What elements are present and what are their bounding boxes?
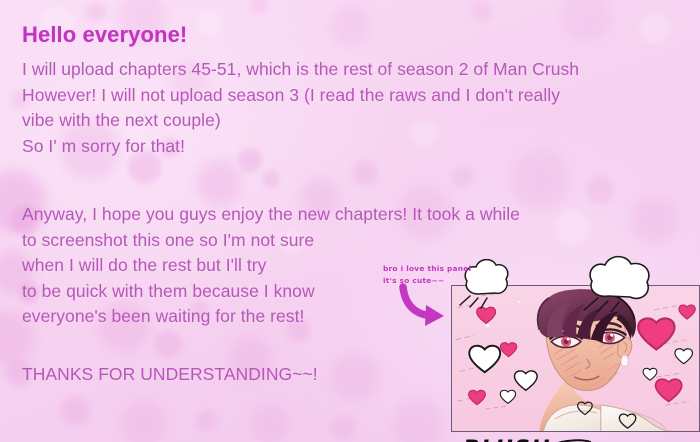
blush-caption-text: BLUSH — [463, 437, 551, 442]
comic-panel — [451, 285, 700, 432]
text-line: However! I will not upload season 3 (I r… — [22, 83, 682, 109]
blush-caption: BLUSH — [461, 430, 591, 442]
panel-artwork — [452, 286, 699, 432]
curved-arrow-icon — [399, 283, 457, 329]
text-line: Anyway, I hope you guys enjoy the new ch… — [22, 202, 682, 228]
page-title: Hello everyone! — [22, 22, 682, 48]
text-line: vibe with the next couple) — [22, 108, 682, 134]
handwritten-annotation: bro i love this panel it's so cute~~ — [383, 263, 503, 287]
annotation-line-one: bro i love this panel — [383, 263, 503, 275]
text-line: to screenshot this one so I'm not sure — [22, 228, 682, 254]
text-line: So I' m sorry for that! — [22, 134, 682, 160]
text-line: I will upload chapters 45-51, which is t… — [22, 57, 682, 83]
paragraph-upload-plans: I will upload chapters 45-51, which is t… — [22, 57, 682, 159]
